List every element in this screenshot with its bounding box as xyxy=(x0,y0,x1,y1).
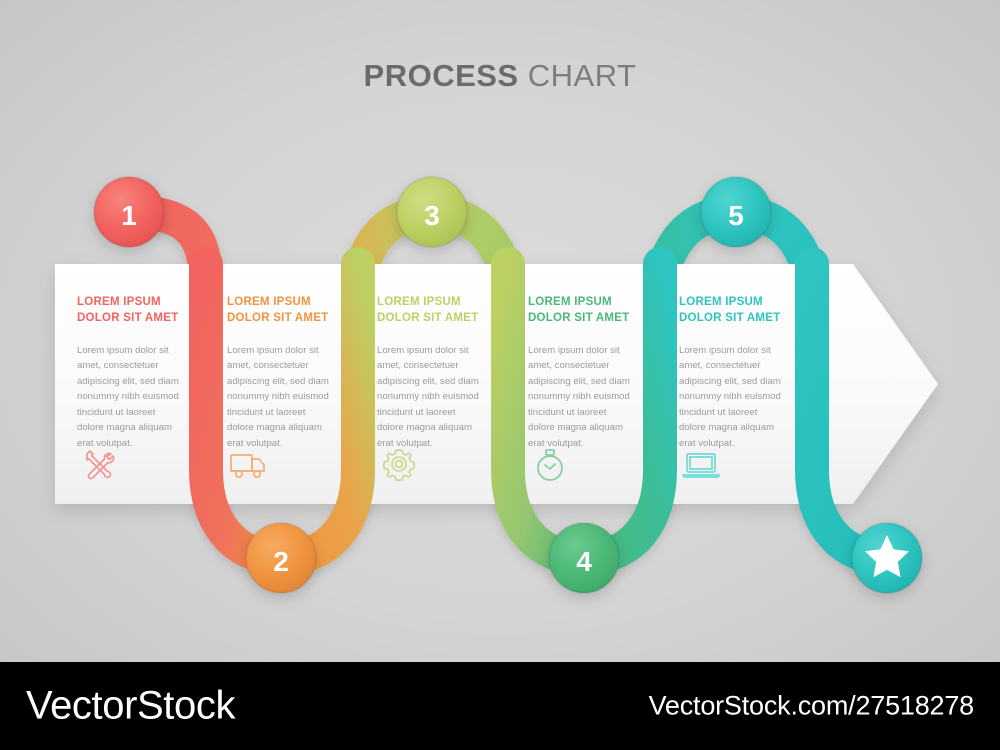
laptop-icon xyxy=(679,444,723,484)
step-columns: LOREM IPSUM DOLOR SIT AMET Lorem ipsum d… xyxy=(55,262,940,504)
step-column-3: LOREM IPSUM DOLOR SIT AMET Lorem ipsum d… xyxy=(377,262,529,504)
step-column-1: LOREM IPSUM DOLOR SIT AMET Lorem ipsum d… xyxy=(77,262,229,504)
step-column-4: LOREM IPSUM DOLOR SIT AMET Lorem ipsum d… xyxy=(528,262,680,504)
step-heading-4: LOREM IPSUM DOLOR SIT AMET xyxy=(528,294,680,327)
infographic-canvas: PROCESS CHART xyxy=(0,0,1000,750)
step-heading-2: LOREM IPSUM DOLOR SIT AMET xyxy=(227,294,379,327)
brand-name: VectorStock xyxy=(26,684,235,729)
stopwatch-icon xyxy=(528,444,572,484)
step-body-4: Lorem ipsum dolor sit amet, consectetuer… xyxy=(528,343,632,452)
step-body-5: Lorem ipsum dolor sit amet, consectetuer… xyxy=(679,343,783,452)
truck-icon xyxy=(227,444,271,484)
step-body-1: Lorem ipsum dolor sit amet, consectetuer… xyxy=(77,343,181,452)
step-heading-3: LOREM IPSUM DOLOR SIT AMET xyxy=(377,294,529,327)
footer-bar: VectorStock VectorStock.com/27518278 xyxy=(0,662,1000,750)
gear-icon xyxy=(377,444,421,484)
step-heading-5: LOREM IPSUM DOLOR SIT AMET xyxy=(679,294,831,327)
step-column-2: LOREM IPSUM DOLOR SIT AMET Lorem ipsum d… xyxy=(227,262,379,504)
end-badge[interactable] xyxy=(852,523,922,593)
step-body-3: Lorem ipsum dolor sit amet, consectetuer… xyxy=(377,343,481,452)
step-number-5: 5 xyxy=(728,200,744,231)
step-body-2: Lorem ipsum dolor sit amet, consectetuer… xyxy=(227,343,331,452)
stock-url: VectorStock.com/27518278 xyxy=(649,691,974,722)
step-number-3: 3 xyxy=(424,200,440,231)
tools-icon xyxy=(77,444,121,484)
step-column-5: LOREM IPSUM DOLOR SIT AMET Lorem ipsum d… xyxy=(679,262,831,504)
step-number-2: 2 xyxy=(273,546,289,577)
step-number-4: 4 xyxy=(576,546,592,577)
step-number-1: 1 xyxy=(121,200,137,231)
step-heading-1: LOREM IPSUM DOLOR SIT AMET xyxy=(77,294,229,327)
